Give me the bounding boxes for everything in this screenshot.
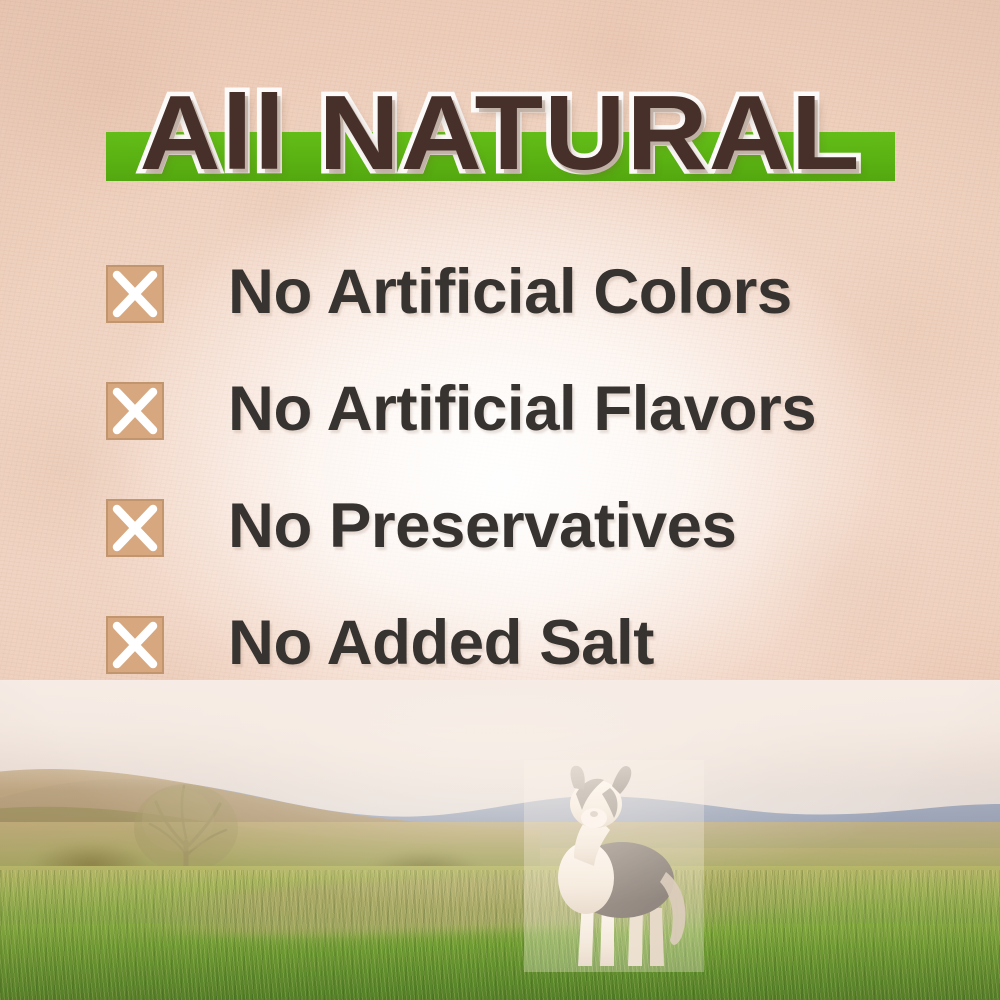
benefit-label: No Preservatives: [228, 490, 953, 562]
all-natural-feature-panel: All NATURAL No Artificial Colors: [0, 0, 1000, 1000]
x-mark-icon: [106, 616, 164, 674]
border-collie-dog: [524, 760, 704, 972]
list-item: No Preservatives: [106, 496, 946, 613]
landscape-photo: [0, 680, 1000, 1000]
page-title: All NATURAL: [0, 74, 1000, 192]
list-item: No Artificial Colors: [106, 262, 946, 379]
benefit-label: No Artificial Colors: [228, 256, 953, 328]
foreground-grass: [0, 924, 1000, 1000]
list-item: No Artificial Flavors: [106, 379, 946, 496]
x-mark-icon: [106, 499, 164, 557]
benefits-list: No Artificial Colors No Artificial Flavo…: [106, 262, 946, 730]
x-mark-icon: [106, 382, 164, 440]
benefit-label: No Artificial Flavors: [228, 373, 953, 445]
benefit-label: No Added Salt: [228, 607, 953, 679]
x-mark-icon: [106, 265, 164, 323]
headline-banner: All NATURAL: [0, 74, 1000, 196]
